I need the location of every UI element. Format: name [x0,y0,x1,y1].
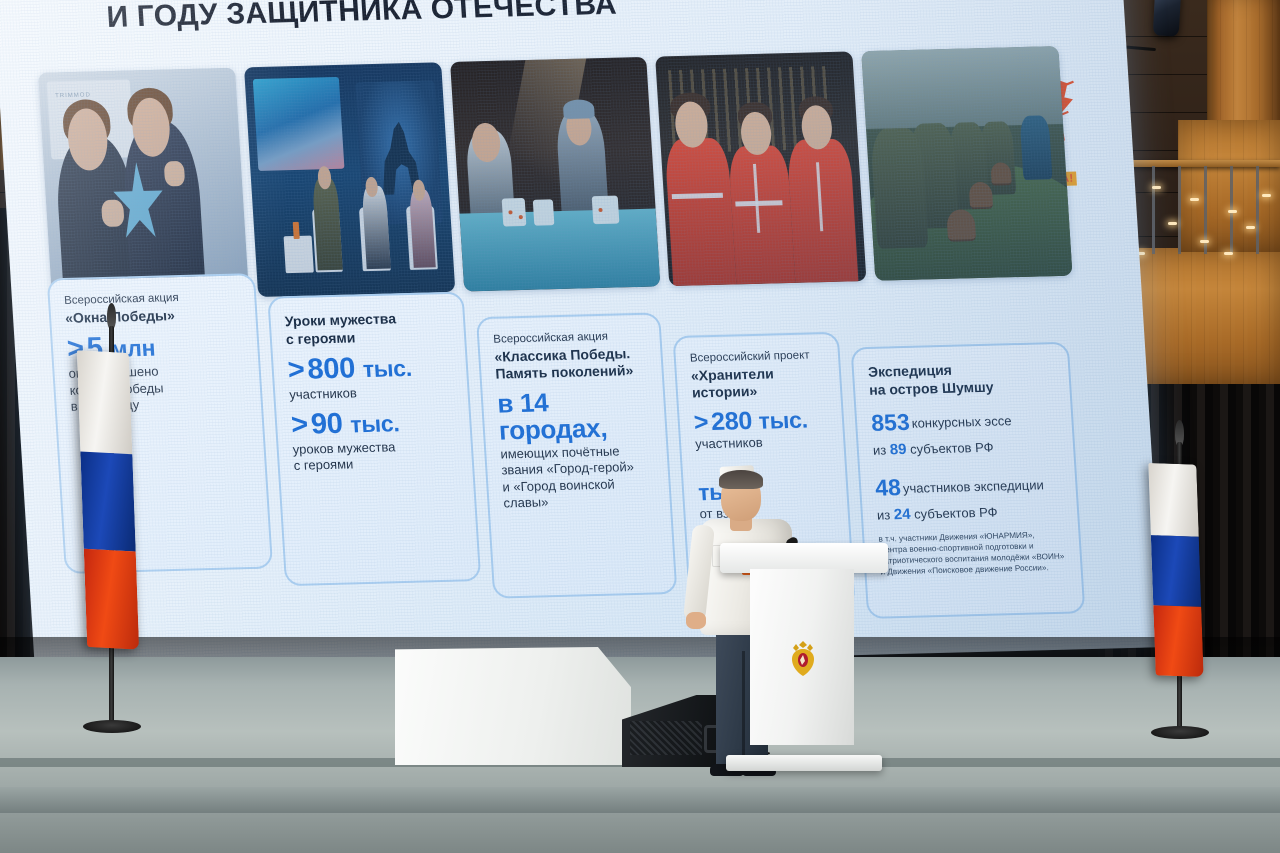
stat-unit: тыс. [758,406,809,433]
stat-number: 800 [307,352,356,385]
stat-unit: городах, [498,413,608,446]
slide: ИЯ, ПРИУРОЧЕННЫЕ К 80-ЛЕТИЮ ЕДЫ В ВЕЛИКО… [0,0,1164,677]
presenter-hand-left [686,612,706,629]
card-stat-sub-2: уроков мужества с героями [292,438,458,475]
stat-card-klassika-pobedy: Всероссийская акция «Классика Победы. Па… [476,312,678,598]
stat-number: 24 [893,506,911,523]
russian-coat-of-arms-icon [788,639,818,677]
card-stat-value-2: >90 тыс. [290,406,456,441]
stat-text: конкурсных эссе [911,413,1012,431]
card-stat-value: в 14 городах, [497,387,652,446]
stat-text: участников экспедиции [902,477,1044,496]
card-stat-sub: участников [289,383,454,404]
stat-card-ekspeditsiya-shumshu: Экспедиция на остров Шумшу 853конкурсных… [851,342,1086,619]
card-stat-sub: имеющих почётные звания «Город-герой» и … [500,443,656,512]
wood-panel-upper-right [1178,120,1280,252]
card-name: Экспедиция на остров Шумшу [868,359,1056,399]
stat-card-uroki-muzhestva: Уроки мужества с героями >800 тыс. участ… [267,292,481,587]
white-riser-block [395,647,631,765]
card-footnote: в т.ч. участники Движения «ЮНАРМИЯ», Цен… [878,530,1067,578]
card-mixed-stat-4: из 24 субъектов РФ [876,501,1063,526]
card-name: Уроки мужества с героями [284,309,450,348]
stat-cards-row: Всероссийская акция «Окна Победы» >5 млн… [45,230,1096,616]
presenter-hair [719,470,763,489]
card-mixed-stat-3: 48участников экспедиции [874,468,1062,504]
greater-than-icon: > [693,408,709,436]
stat-number: 48 [874,474,901,501]
greater-than-icon: > [290,409,309,441]
stat-prefix: из [872,442,886,457]
card-stat-sub: участников [695,433,830,453]
card-stat-value: >280 тыс. [693,406,829,436]
card-stat-value: >800 тыс. [287,351,453,386]
card-name: «Классика Победы. Память поколений» [494,345,648,384]
lectern-base [726,755,882,771]
stat-unit: тыс. [362,355,413,382]
stat-number: 90 [310,408,344,441]
stage-front-band [0,787,1280,813]
stat-text: субъектов РФ [910,439,994,456]
lectern [740,543,868,771]
stat-number: в 14 [496,387,549,418]
greater-than-icon: > [287,354,306,386]
stat-text: субъектов РФ [914,504,998,521]
card-name: «Хранители истории» [690,364,826,402]
card-mixed-stat-2: из 89 субъектов РФ [872,436,1059,461]
presentation-screen: ИЯ, ПРИУРОЧЕННЫЕ К 80-ЛЕТИЮ ЕДЫ В ВЕЛИКО… [0,0,1164,677]
stage-scene: ИЯ, ПРИУРОЧЕННЫЕ К 80-ЛЕТИЮ ЕДЫ В ВЕЛИКО… [0,0,1280,853]
stat-prefix: из [876,507,890,522]
slide-title-line-3: И ГОДУ ЗАЩИТНИКА ОТЕЧЕСТВА [106,0,988,36]
slide-title: ИЯ, ПРИУРОЧЕННЫЕ К 80-ЛЕТИЮ ЕДЫ В ВЕЛИКО… [101,0,988,36]
stat-unit: тыс. [350,410,401,437]
stat-number: 280 [710,407,753,436]
card-name: «Окна Победы» [65,305,242,327]
card-mixed-stat-1: 853конкурсных эссе [870,403,1058,439]
stage-light-5 [1153,0,1181,37]
stat-number: 853 [870,409,910,436]
stat-number: 89 [889,441,907,458]
